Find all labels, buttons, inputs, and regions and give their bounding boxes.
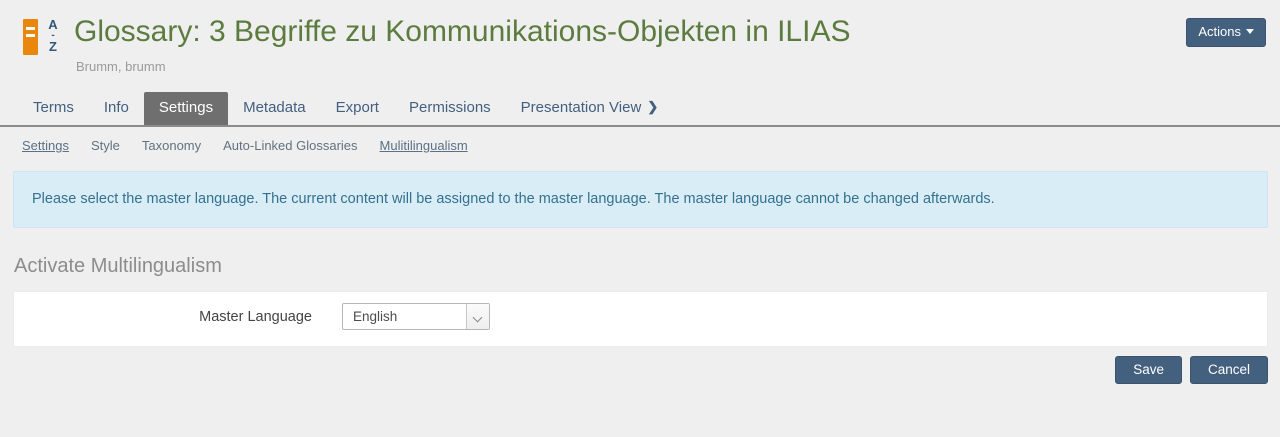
section-heading: Activate Multilingualism <box>14 253 1280 279</box>
title-block: Glossary: 3 Begriffe zu Kommunikations-O… <box>66 14 1186 76</box>
subtab-auto-linked-glossaries[interactable]: Auto-Linked Glossaries <box>223 137 357 155</box>
chevron-down-icon <box>1246 29 1254 34</box>
tab-list: Terms Info Settings Metadata Export Perm… <box>18 92 1268 125</box>
tab-metadata[interactable]: Metadata <box>228 92 321 125</box>
save-button[interactable]: Save <box>1115 356 1182 384</box>
az-letter-bottom: Z <box>49 39 57 54</box>
actions-button[interactable]: Actions <box>1186 18 1266 47</box>
subtab-taxonomy[interactable]: Taxonomy <box>142 137 201 155</box>
glossary-az-icon: A - Z <box>18 16 66 60</box>
page-title: Glossary: 3 Begriffe zu Kommunikations-O… <box>74 14 1186 50</box>
master-language-value: English <box>353 308 397 326</box>
page-header: A - Z Glossary: 3 Begriffe zu Kommunikat… <box>0 0 1280 76</box>
info-message-text: Please select the master language. The c… <box>32 189 1249 209</box>
master-language-select[interactable]: English <box>342 303 490 330</box>
tab-terms[interactable]: Terms <box>18 92 89 125</box>
subtab-settings[interactable]: Settings <box>22 137 69 155</box>
cancel-button[interactable]: Cancel <box>1190 356 1268 384</box>
info-message-box: Please select the master language. The c… <box>13 171 1268 228</box>
form-panel: Master Language English <box>13 291 1268 347</box>
tab-export[interactable]: Export <box>321 92 394 125</box>
page-subtitle: Brumm, brumm <box>74 58 1186 76</box>
actions-button-label: Actions <box>1198 24 1241 39</box>
tab-presentation-view-label: Presentation View <box>521 99 642 116</box>
master-language-row: Master Language English <box>14 292 1267 330</box>
tab-settings[interactable]: Settings <box>144 92 228 125</box>
book-spine-icon <box>23 19 38 55</box>
tab-presentation-view[interactable]: Presentation View❯ <box>506 92 674 125</box>
chevron-right-icon: ❯ <box>647 98 658 116</box>
sub-tabbar: Settings Style Taxonomy Auto-Linked Glos… <box>0 137 1280 155</box>
header-row: A - Z Glossary: 3 Begriffe zu Kommunikat… <box>0 14 1280 76</box>
az-letters-icon: A - Z <box>42 18 64 56</box>
subtab-style[interactable]: Style <box>91 137 120 155</box>
page-root: A - Z Glossary: 3 Begriffe zu Kommunikat… <box>0 0 1280 437</box>
master-language-label: Master Language <box>14 307 342 327</box>
tab-permissions[interactable]: Permissions <box>394 92 506 125</box>
subtab-multilingualism[interactable]: Mulitilingualism <box>380 137 468 155</box>
form-footer: Save Cancel <box>0 356 1268 384</box>
chevron-down-icon[interactable] <box>466 304 489 329</box>
tab-info[interactable]: Info <box>89 92 144 125</box>
main-tabbar: Terms Info Settings Metadata Export Perm… <box>0 92 1280 127</box>
